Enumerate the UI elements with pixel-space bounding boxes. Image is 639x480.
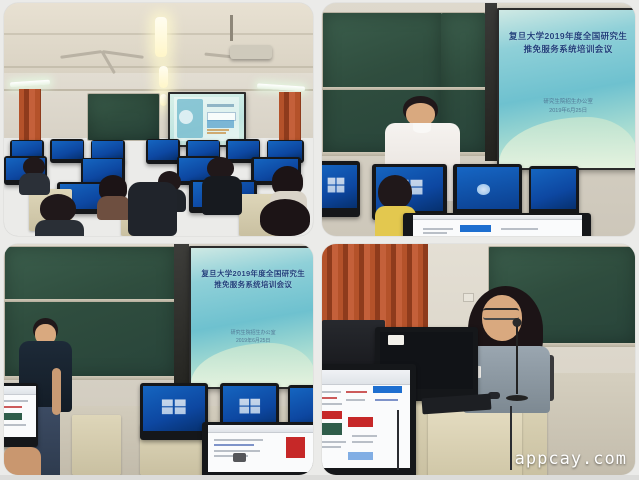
student-hand bbox=[4, 447, 41, 475]
slide-subtitle-line-1: 研究生院招生办公室 bbox=[543, 99, 593, 105]
chalk-rail bbox=[4, 299, 174, 302]
slide-title-line-1: 复旦大学2019年度全国研究生 bbox=[509, 31, 627, 41]
web-page-content bbox=[208, 425, 313, 472]
collage-tile-top-left[interactable] bbox=[4, 3, 313, 236]
web-page-content bbox=[4, 386, 36, 436]
wall-column bbox=[485, 3, 498, 161]
slide-subtitle-line-1: 研究生院招生办公室 bbox=[231, 330, 276, 336]
slide-title: 复旦大学2019年度全国研究生 推免服务系统培训会议 bbox=[499, 30, 635, 56]
computer-desk bbox=[72, 415, 121, 475]
slide-subtitle-date: 2019年6月25日 bbox=[236, 338, 270, 344]
operator-monitor-front bbox=[322, 364, 416, 475]
windows-logo-icon bbox=[239, 398, 260, 413]
web-page-content bbox=[413, 215, 582, 236]
windows-logo-icon bbox=[328, 177, 345, 192]
classroom-wide-scene bbox=[4, 3, 313, 236]
windows-logo-icon bbox=[162, 399, 186, 414]
foreground-monitor bbox=[4, 383, 38, 448]
projection-screen: 复旦大学2019年度全国研究生 推免服务系统培训会议 研究生院招生办公室 201… bbox=[189, 246, 313, 389]
seated-student bbox=[97, 175, 131, 217]
speaker-collar bbox=[413, 123, 431, 133]
seated-student-foreground bbox=[257, 199, 313, 236]
chalk-rail bbox=[322, 87, 485, 90]
projected-web-page bbox=[174, 97, 239, 141]
second-speaker-scene: 复旦大学2019年度全国研究生 推免服务系统培训会议 研究生院招生办公室 201… bbox=[4, 244, 313, 475]
pendant-light bbox=[160, 94, 167, 106]
student-monitor bbox=[140, 383, 208, 441]
slide-subtitle: 研究生院招生办公室 2019年6月25日 bbox=[499, 98, 635, 116]
ceiling-fan bbox=[72, 43, 132, 57]
backpack bbox=[128, 182, 177, 236]
slide-wave-graphic bbox=[191, 343, 313, 387]
monitor-label-sticker bbox=[388, 335, 405, 345]
photo-collage: 复旦大学2019年度全国研究生 推免服务系统培训会议 研究生院招生办公室 201… bbox=[0, 0, 639, 480]
slide-title-line-2: 推免服务系统培训会议 bbox=[524, 44, 613, 54]
blackboard bbox=[87, 93, 160, 142]
bottom-edge-strip bbox=[0, 475, 639, 480]
wall-column bbox=[174, 244, 189, 383]
operator-scene bbox=[322, 244, 635, 475]
slide-subtitle: 研究生院招生办公室 2019年6月25日 bbox=[191, 329, 313, 345]
foreground-web-monitor bbox=[202, 422, 313, 475]
desk-microphone bbox=[504, 318, 530, 401]
slide-title-line-1: 复旦大学2019年度全国研究生 bbox=[201, 269, 305, 278]
projector bbox=[230, 45, 272, 59]
operator-desk-front bbox=[428, 406, 522, 475]
collage-tile-bottom-right[interactable]: appcay.com bbox=[322, 244, 635, 475]
slide-title-line-2: 推免服务系统培训会议 bbox=[214, 280, 292, 289]
foreground-monitor bbox=[403, 213, 591, 236]
seated-student bbox=[19, 157, 50, 194]
student-monitor bbox=[322, 161, 360, 217]
projection-screen: 复旦大学2019年度全国研究生 推免服务系统培训会议 研究生院招生办公室 201… bbox=[497, 8, 635, 170]
cable bbox=[397, 410, 399, 470]
pendant-light bbox=[155, 17, 167, 57]
seated-student bbox=[202, 157, 242, 213]
projector-mount bbox=[230, 15, 233, 41]
ceiling-beam bbox=[4, 89, 313, 91]
speaker-scene: 复旦大学2019年度全国研究生 推免服务系统培训会议 研究生院招生办公室 201… bbox=[322, 3, 635, 236]
slide-wave-graphic bbox=[499, 117, 635, 168]
slide-title: 复旦大学2019年度全国研究生 推免服务系统培训会议 bbox=[191, 268, 313, 291]
student-monitor bbox=[453, 164, 522, 218]
window-curtain bbox=[279, 92, 301, 146]
presenter-arm bbox=[52, 368, 61, 415]
student-monitor bbox=[529, 166, 579, 217]
collage-tile-top-right[interactable]: 复旦大学2019年度全国研究生 推免服务系统培训会议 研究生院招生办公室 201… bbox=[322, 3, 635, 236]
slide-subtitle-date: 2019年6月25日 bbox=[549, 108, 587, 114]
seated-student-foreground bbox=[35, 194, 84, 236]
collage-tile-bottom-left[interactable]: 复旦大学2019年度全国研究生 推免服务系统培训会议 研究生院招生办公室 201… bbox=[4, 244, 313, 475]
pendant-light bbox=[159, 66, 168, 88]
window-curtain bbox=[19, 89, 41, 145]
cable bbox=[510, 406, 512, 471]
